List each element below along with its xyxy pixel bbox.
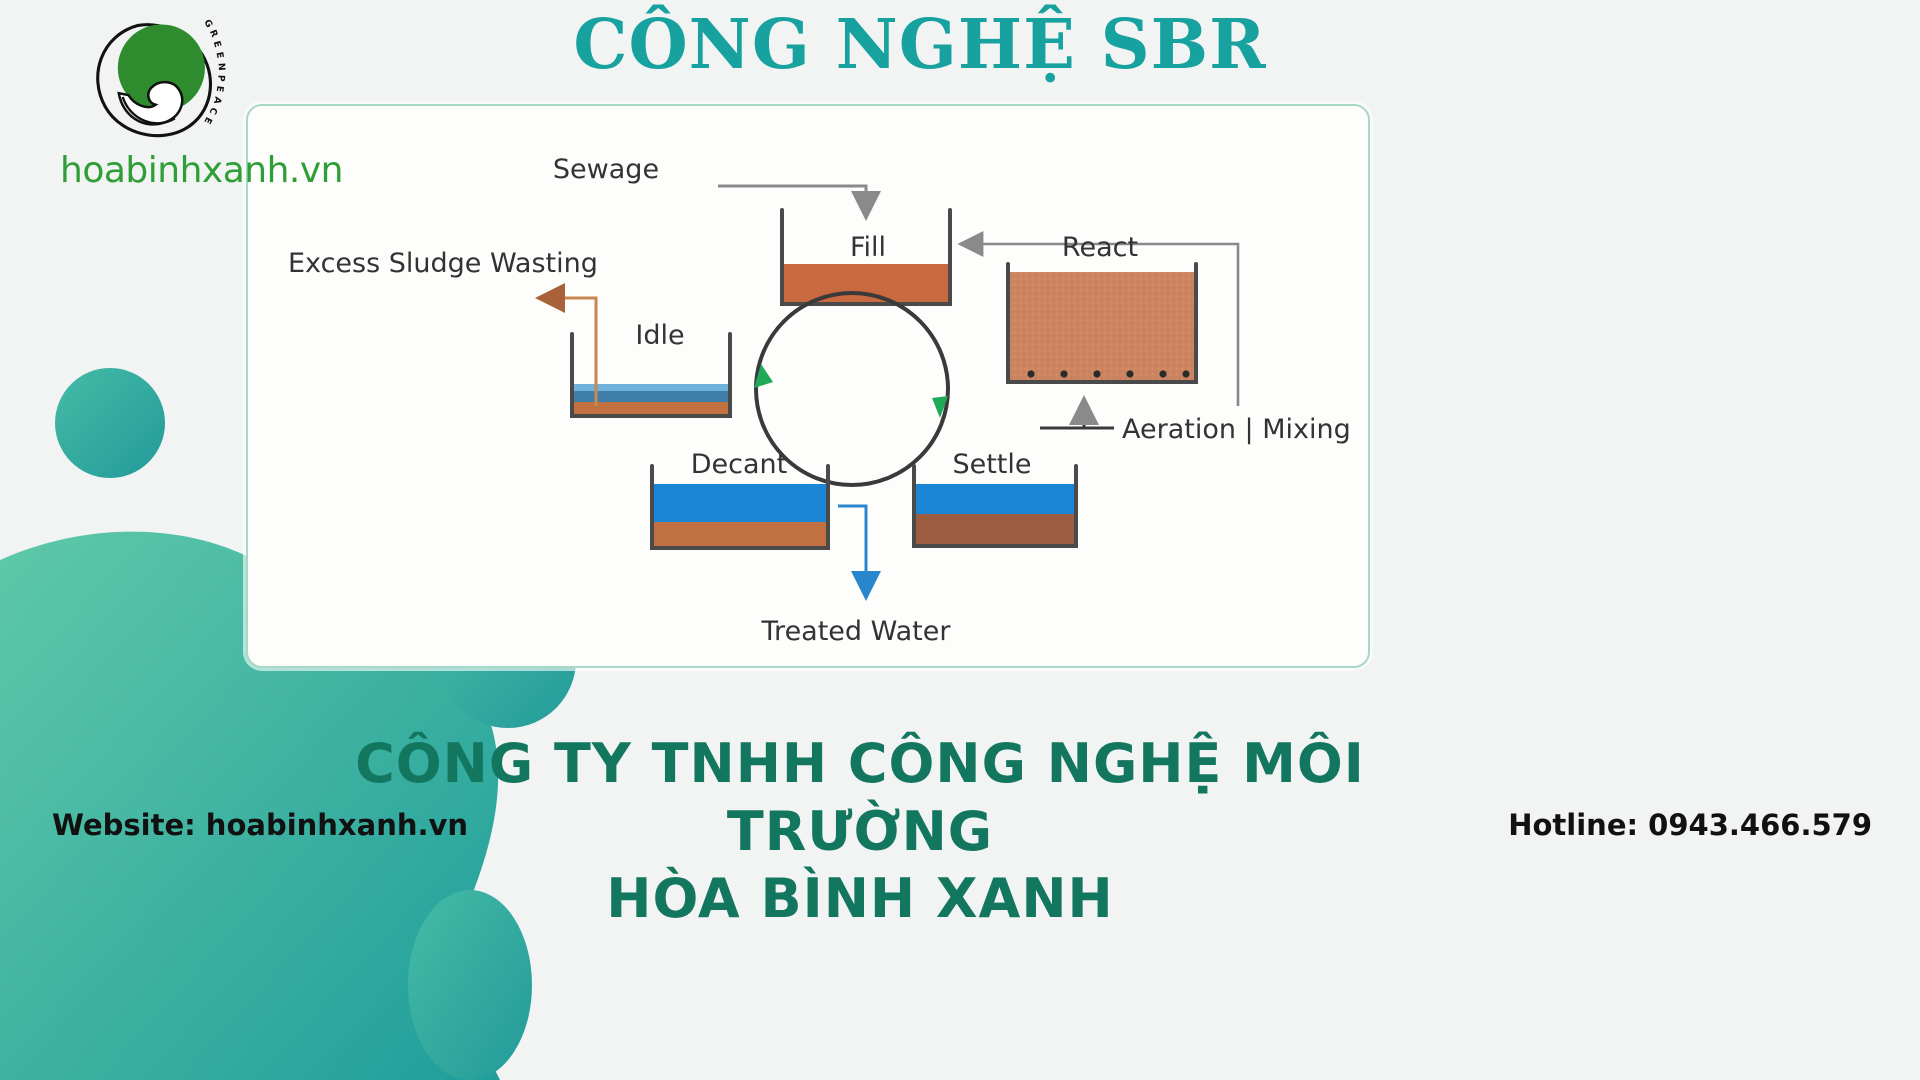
react-tank-sludge xyxy=(1008,272,1196,382)
label-react: React xyxy=(1062,232,1138,263)
label-treated-water: Treated Water xyxy=(761,616,952,647)
company-line-1: CÔNG TY TNHH CÔNG NGHỆ MÔI TRƯỜNG xyxy=(355,732,1365,863)
sbr-process-diagram: Sewage Fill React Aeration | Mix xyxy=(246,104,1370,668)
svg-text:G: G xyxy=(201,18,214,30)
label-sewage: Sewage xyxy=(553,154,659,185)
svg-text:E: E xyxy=(211,40,223,49)
brand-wordmark: hoabinhxanh.vn xyxy=(60,150,350,191)
greenpeace-globe-hand-icon: G R E E N P E A C E xyxy=(80,8,235,158)
brand-logo: G R E E N P E A C E hoabinhxanh.vn xyxy=(60,8,360,198)
decant-tank-clear-water xyxy=(652,484,828,522)
svg-text:N: N xyxy=(215,63,227,71)
label-excess-sludge-wasting: Excess Sludge Wasting xyxy=(288,248,598,279)
settle-tank-sludge xyxy=(914,514,1076,546)
page-title: CÔNG NGHỆ SBR xyxy=(420,10,1420,81)
svg-text:R: R xyxy=(207,28,220,39)
fill-tank-water xyxy=(782,264,950,304)
footer-hotline: Hotline: 0943.466.579 xyxy=(1508,808,1872,842)
footer-company-name: CÔNG TY TNHH CÔNG NGHỆ MÔI TRƯỜNG HÒA BÌ… xyxy=(330,730,1390,933)
footer-website: Website: hoabinhxanh.vn xyxy=(52,808,472,842)
label-settle: Settle xyxy=(952,449,1031,480)
svg-text:E: E xyxy=(201,115,214,125)
svg-text:A: A xyxy=(211,95,224,105)
svg-text:E: E xyxy=(214,85,226,93)
svg-text:E: E xyxy=(214,51,226,59)
label-idle: Idle xyxy=(635,320,684,351)
label-aeration-mixing: Aeration | Mixing xyxy=(1122,414,1351,445)
decant-tank-sludge xyxy=(652,522,828,548)
label-decant: Decant xyxy=(691,449,788,480)
settle-tank-clear-water xyxy=(914,484,1076,514)
svg-text:P: P xyxy=(215,75,226,82)
svg-text:C: C xyxy=(206,106,219,116)
company-line-2: HÒA BÌNH XANH xyxy=(330,865,1390,933)
label-fill: Fill xyxy=(850,232,886,263)
